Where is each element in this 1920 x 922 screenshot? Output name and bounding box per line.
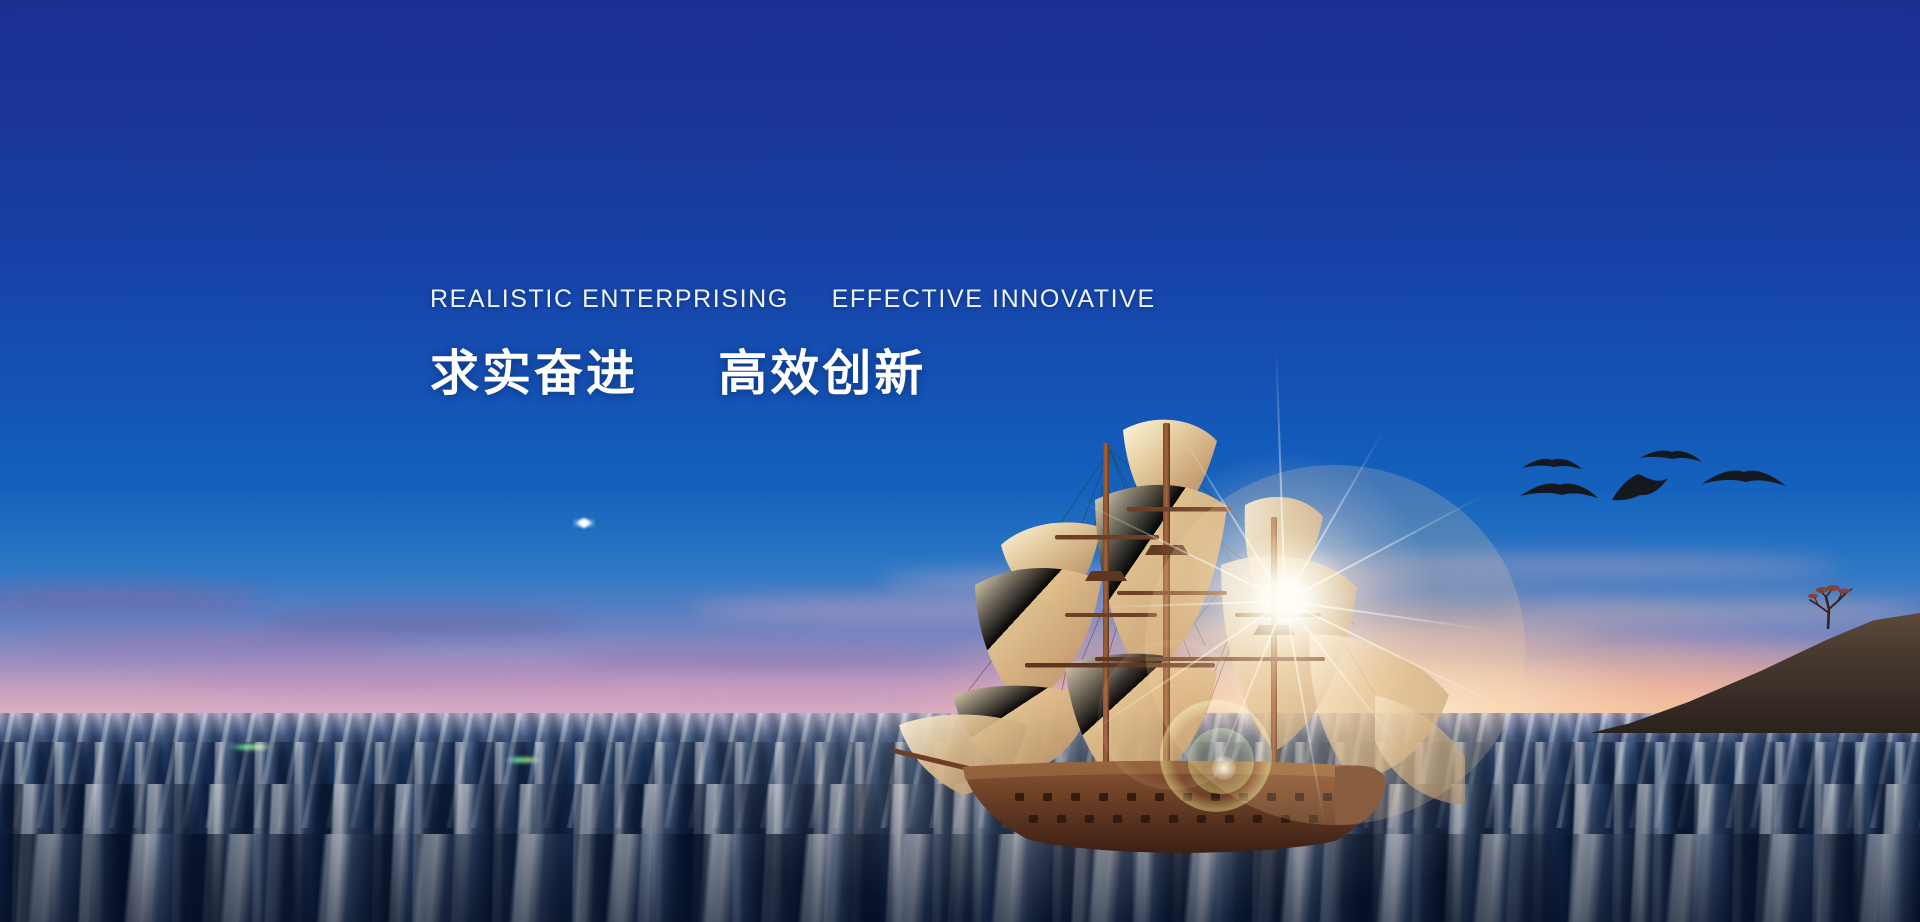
banner-copy: REALISTIC ENTERPRISING EFFECTIVE INNOVAT… <box>430 285 1150 405</box>
hero-banner: REALISTIC ENTERPRISING EFFECTIVE INNOVAT… <box>0 0 1920 922</box>
bird-icon <box>1640 451 1702 462</box>
lens-streak-icon <box>228 744 274 750</box>
headline-chinese: 求实奋进 高效创新 <box>430 334 1150 405</box>
star-flare-icon <box>573 518 595 528</box>
headline-english: REALISTIC ENTERPRISING EFFECTIVE INNOVAT… <box>430 285 1150 314</box>
bird-icon <box>1702 471 1786 487</box>
bird-icon <box>1520 483 1598 498</box>
birds-flock <box>1520 440 1790 530</box>
island-headland <box>1590 583 1920 733</box>
sailing-ship <box>905 395 1465 865</box>
bird-icon <box>1612 474 1668 500</box>
lens-streak-icon <box>503 757 543 763</box>
bird-icon <box>1522 459 1582 469</box>
tree-silhouette-icon <box>1798 583 1864 629</box>
hill-silhouette <box>1590 613 1920 733</box>
